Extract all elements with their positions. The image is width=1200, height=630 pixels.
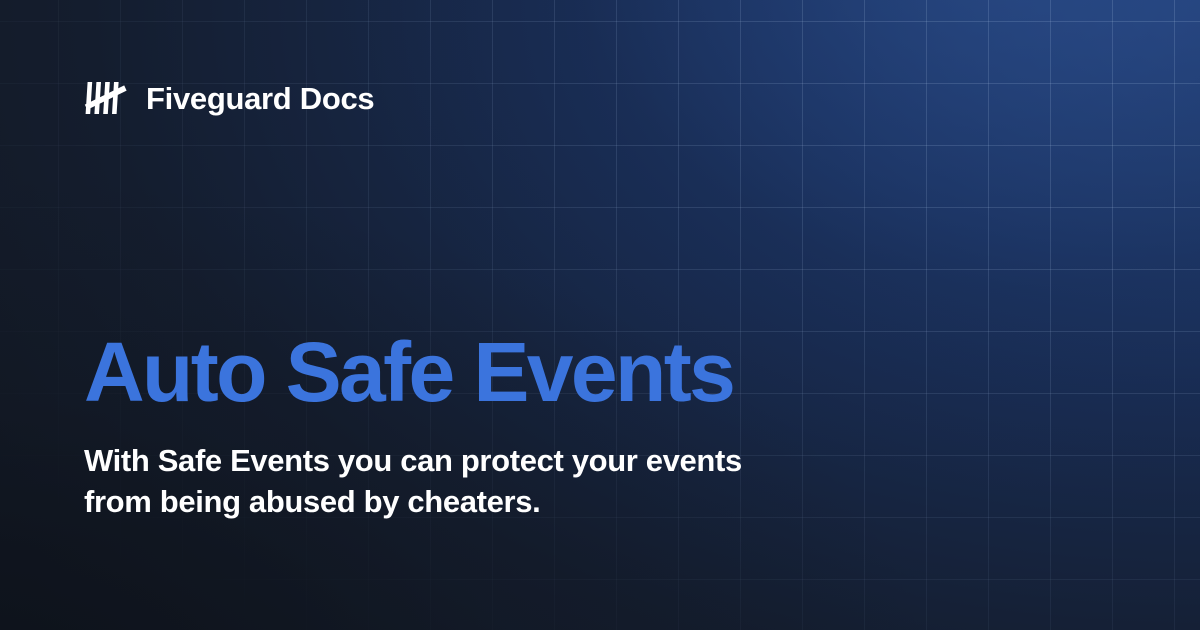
tally-mark-icon (84, 76, 128, 120)
page-title: Auto Safe Events (84, 330, 924, 416)
brand-header[interactable]: Fiveguard Docs (84, 76, 374, 120)
hero-block: Auto Safe Events With Safe Events you ca… (84, 330, 924, 522)
brand-name-label: Fiveguard Docs (146, 83, 374, 114)
page-subtitle: With Safe Events you can protect your ev… (84, 440, 784, 522)
og-preview-card: Fiveguard Docs Auto Safe Events With Saf… (0, 0, 1200, 630)
